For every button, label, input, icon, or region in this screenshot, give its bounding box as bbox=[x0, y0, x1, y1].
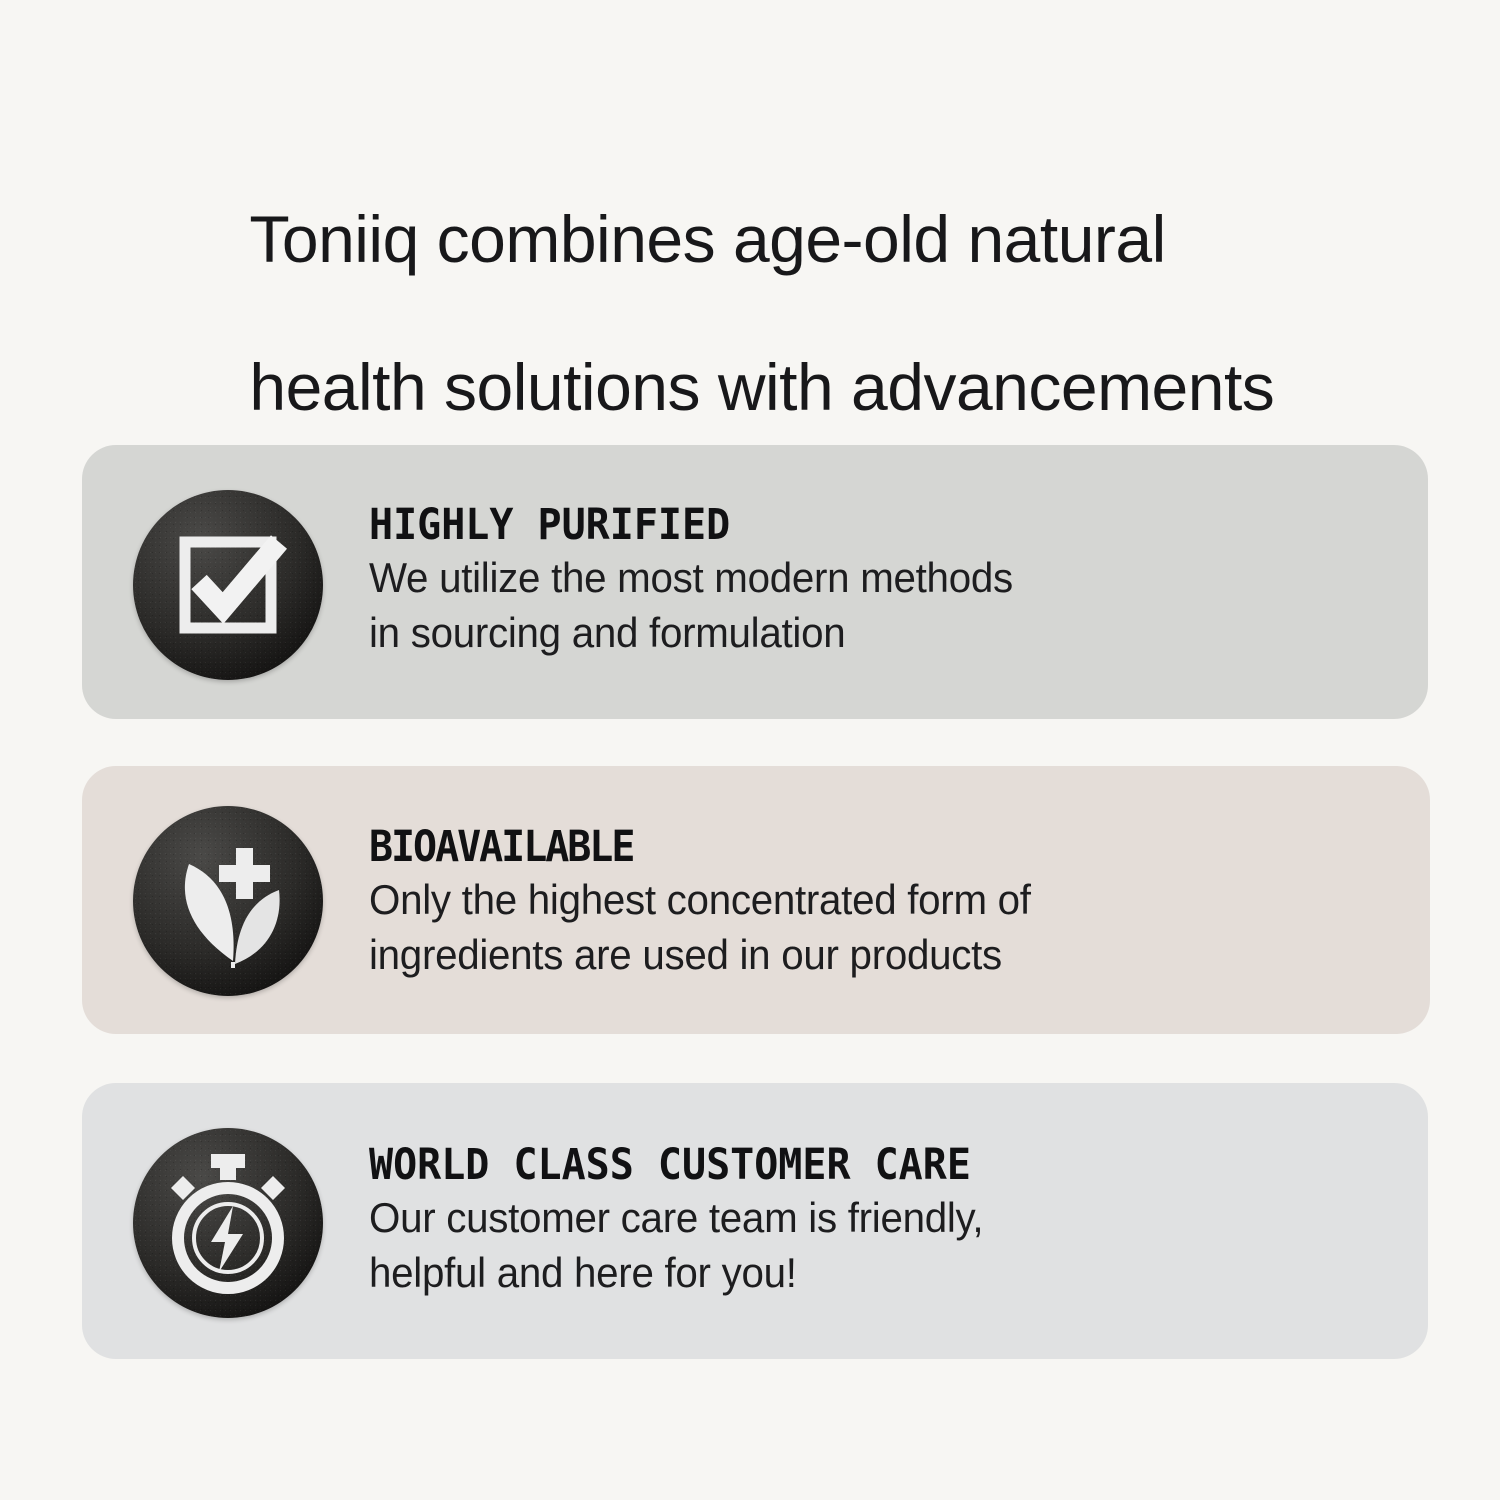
card-body: We utilize the most modern methods in so… bbox=[369, 550, 1013, 660]
card-body: Only the highest concentrated form of in… bbox=[369, 872, 1031, 982]
card-heading: BIOAVAILABLE bbox=[369, 822, 1010, 872]
leaf-plus-icon bbox=[133, 806, 323, 996]
benefit-text-customer-care: WORLD CLASS CUSTOMER CARE Our customer c… bbox=[369, 1140, 1016, 1300]
card-heading: WORLD CLASS CUSTOMER CARE bbox=[369, 1140, 971, 1190]
benefit-text-highly-purified: HIGHLY PURIFIED We utilize the most mode… bbox=[369, 500, 1040, 660]
checkbox-check-icon bbox=[133, 490, 323, 680]
headline-line-2: health solutions with advancements bbox=[249, 350, 1274, 424]
headline-line-1: Toniiq combines age-old natural bbox=[249, 202, 1165, 276]
card-heading: HIGHLY PURIFIED bbox=[369, 500, 993, 550]
card-body: Our customer care team is friendly, help… bbox=[369, 1190, 990, 1300]
benefit-text-bioavailable: BIOAVAILABLE Only the highest concentrat… bbox=[369, 822, 1058, 982]
promo-graphic: Toniiq combines age-old natural health s… bbox=[0, 0, 1500, 1500]
stopwatch-bolt-icon bbox=[133, 1128, 323, 1318]
